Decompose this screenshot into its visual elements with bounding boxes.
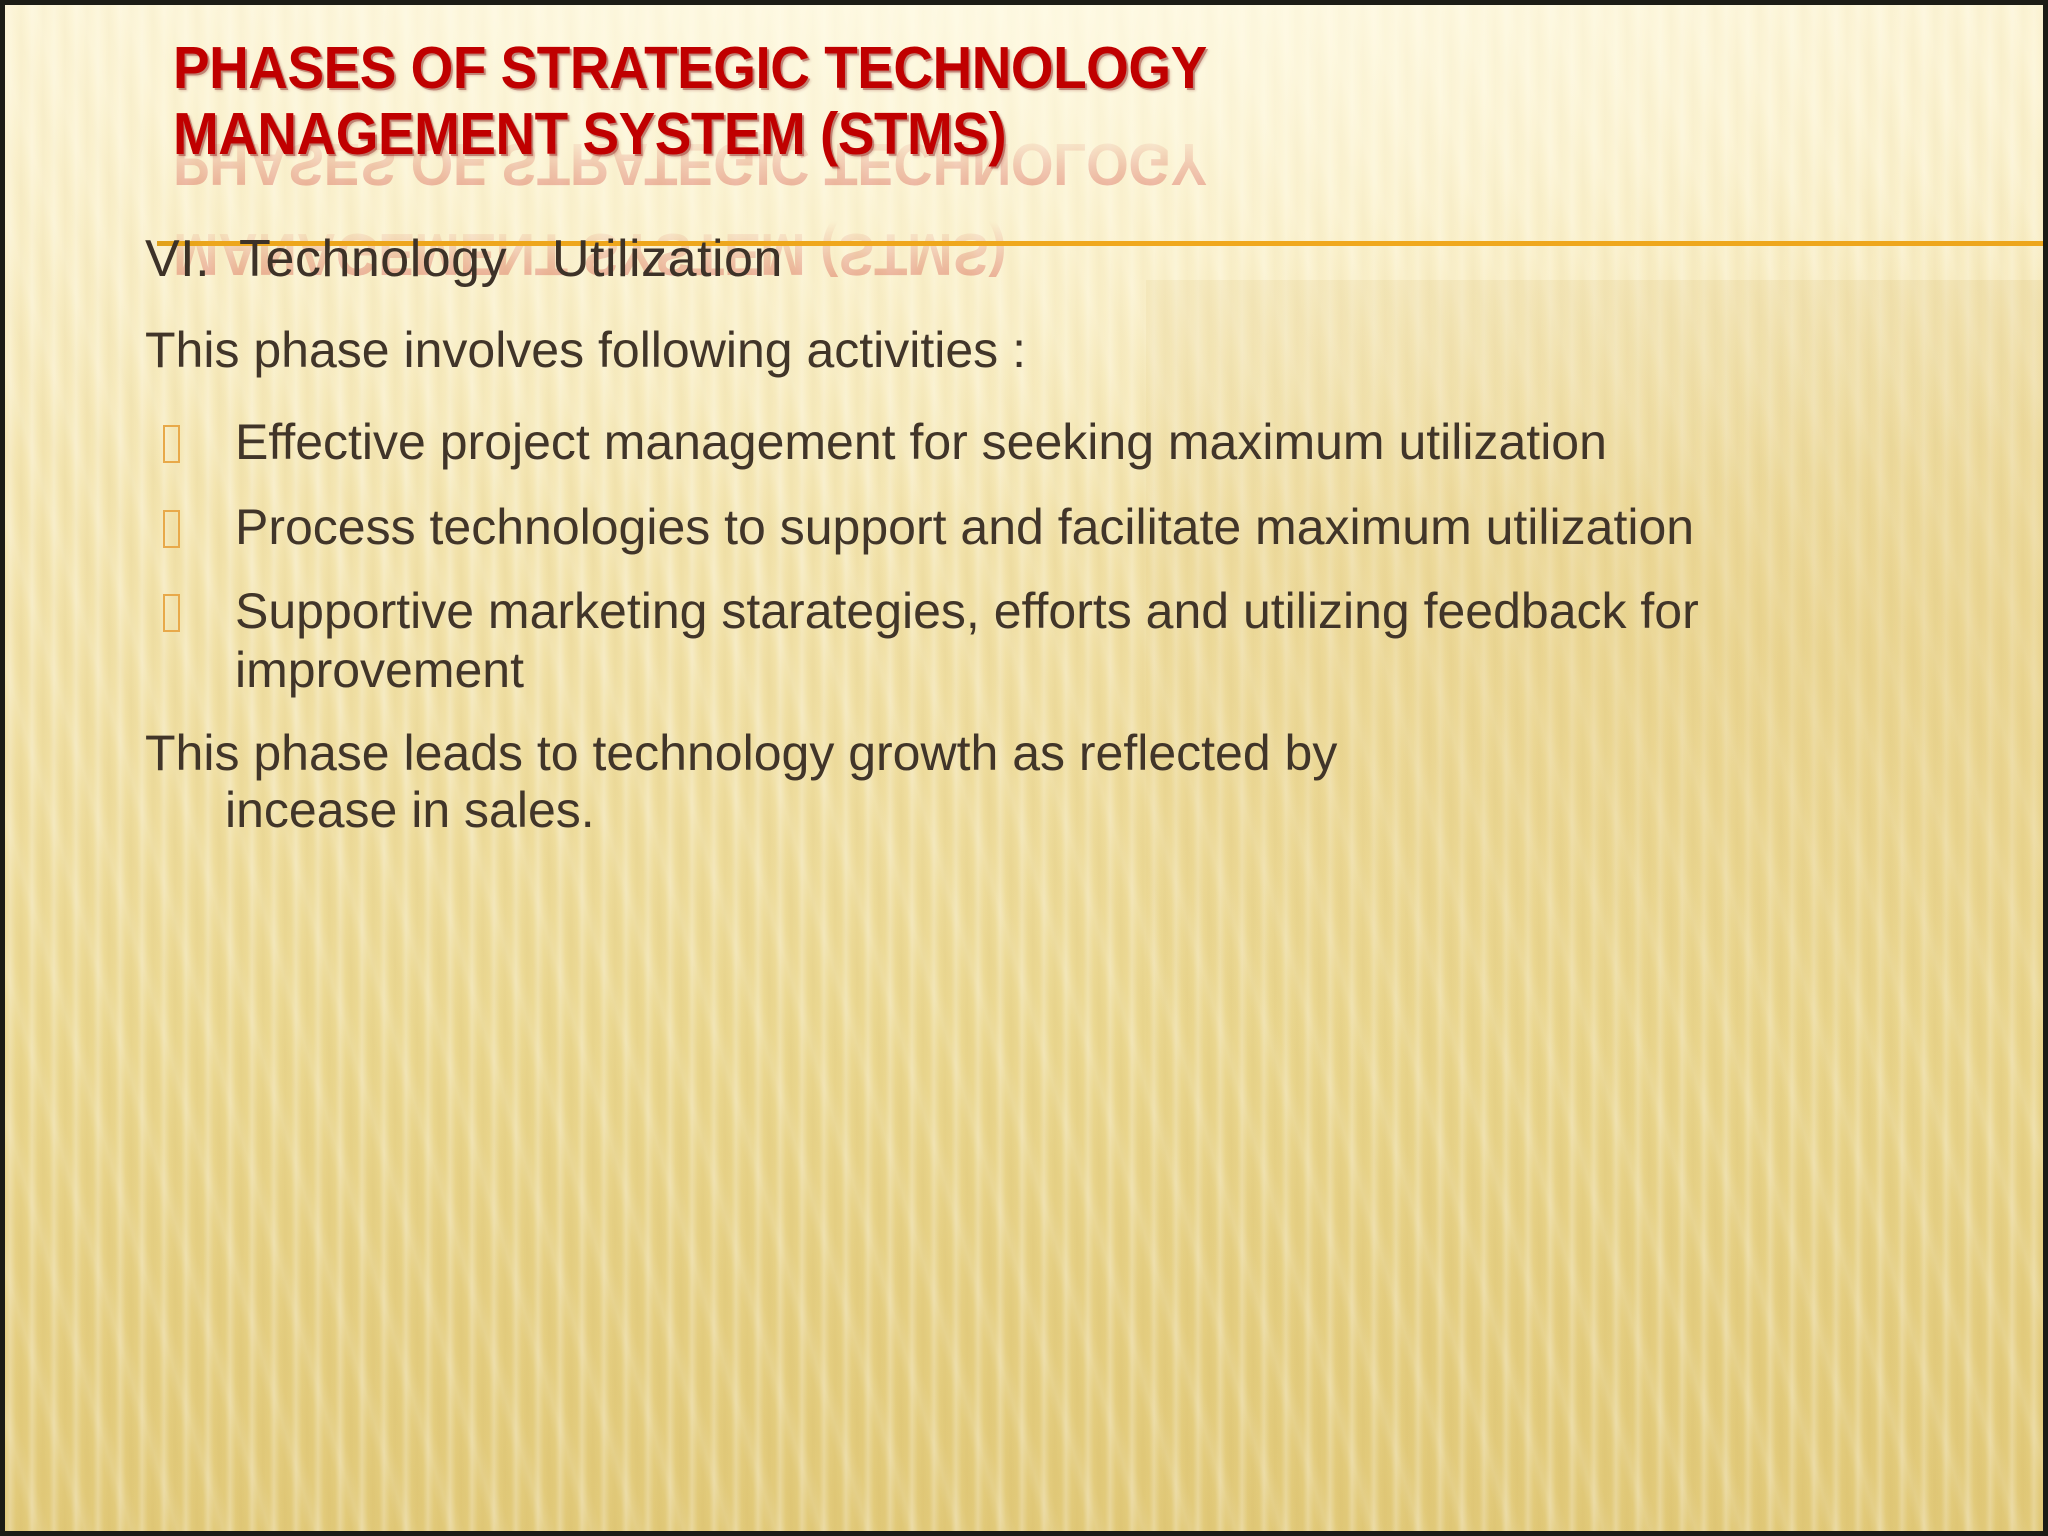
activities-bullet-list: Effective project management for seeking… [145,413,1983,699]
slide-content: PHASES OF STRATEGIC TECHNOLOGY MANAGEMEN… [5,5,2043,1531]
missing-glyph-box-icon [163,510,180,548]
list-item: Process technologies to support and faci… [145,498,1983,557]
closing-paragraph-line1: This phase leads to technology growth as… [145,725,1337,781]
slide-title: PHASES OF STRATEGIC TECHNOLOGY MANAGEMEN… [173,35,1475,167]
closing-paragraph-line2: incease in sales. [145,782,1983,839]
missing-glyph-box-icon [163,425,180,463]
slide-body: VI. Technology Utilization This phase in… [145,233,1983,873]
list-item: Supportive marketing starategies, effort… [145,582,1983,699]
title-block: PHASES OF STRATEGIC TECHNOLOGY MANAGEMEN… [173,35,1573,167]
section-heading: VI. Technology Utilization [145,233,1983,286]
list-item-label: Supportive marketing starategies, effort… [235,583,1699,698]
missing-glyph-box-icon [163,594,180,632]
list-item-label: Effective project management for seeking… [235,414,1607,470]
closing-paragraph: This phase leads to technology growth as… [145,725,1983,839]
presentation-slide: PHASES OF STRATEGIC TECHNOLOGY MANAGEMEN… [0,0,2048,1536]
list-item-label: Process technologies to support and faci… [235,499,1694,555]
intro-paragraph: This phase involves following activities… [145,322,1983,379]
list-item: Effective project management for seeking… [145,413,1983,472]
